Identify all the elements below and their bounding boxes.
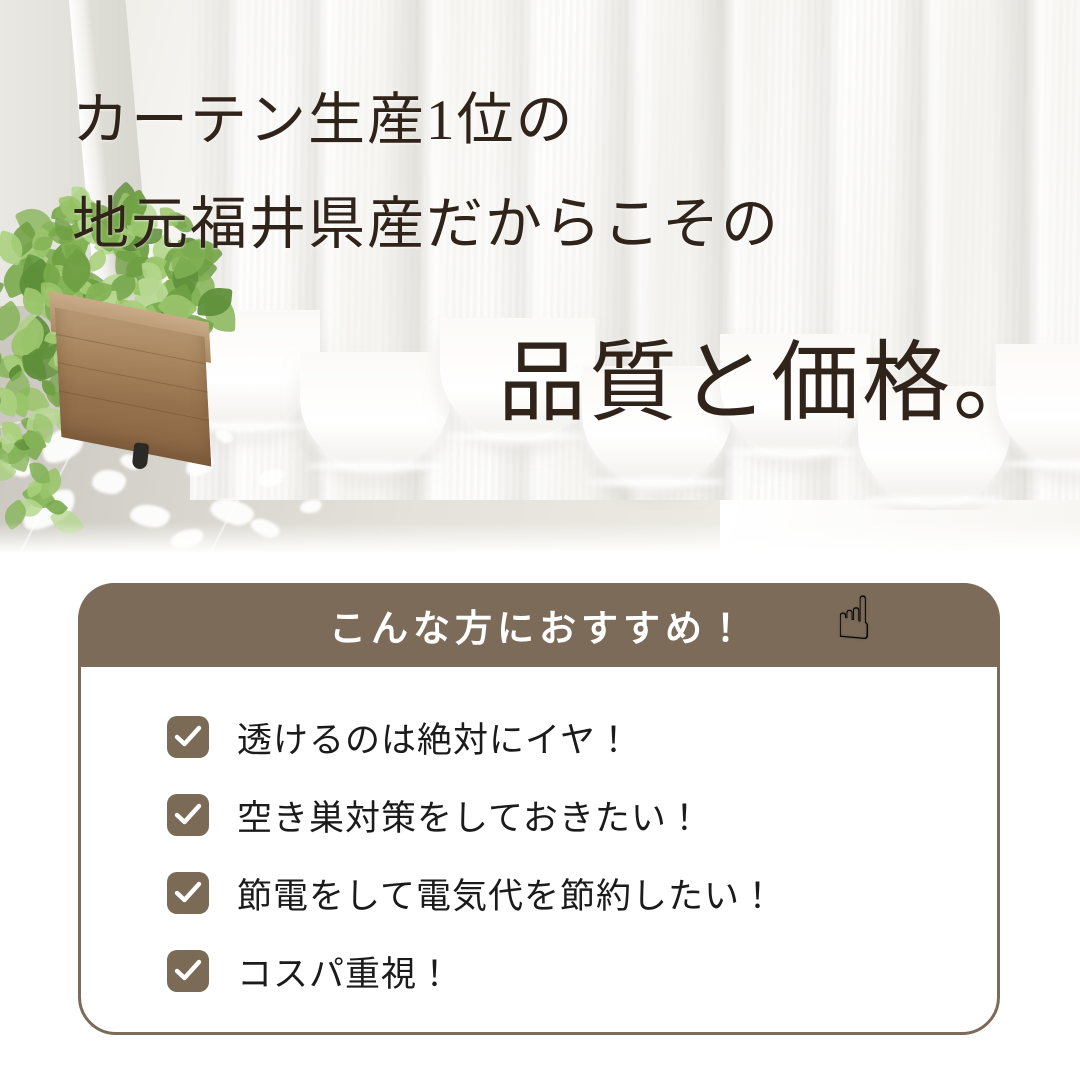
curtain-scallop — [440, 318, 595, 438]
leaf — [160, 206, 178, 227]
curtain-scallop — [300, 352, 450, 468]
curtain-backlight-glow — [864, 496, 1004, 504]
list-item[interactable]: 空き巣対策をしておきたい！ — [167, 776, 967, 854]
curtain-scallop — [720, 334, 870, 454]
hero-photo — [0, 0, 1080, 556]
list-item-label: 空き巣対策をしておきたい！ — [237, 790, 703, 841]
curtain-scallop — [996, 344, 1080, 466]
recommend-card-header: こんな方におすすめ！ ☝ — [78, 583, 1000, 667]
recommend-card: こんな方におすすめ！ ☝ 透けるのは絶対にイヤ！空き巣対策をしておきたい！節電を… — [78, 583, 1000, 1035]
check-icon[interactable] — [167, 872, 209, 914]
list-item[interactable]: コスパ重視！ — [167, 932, 967, 1010]
curtain-backlight-glow — [726, 448, 864, 456]
photo-bottom-fade — [0, 522, 1080, 556]
list-item-label: 透けるのは絶対にイヤ！ — [237, 712, 632, 763]
pointing-hand-icon: ☝ — [835, 589, 872, 649]
curtain-backlight-glow — [446, 432, 589, 440]
curtain-backlight-glow — [1002, 460, 1080, 468]
check-icon[interactable] — [167, 794, 209, 836]
recommendation-list: 透けるのは絶対にイヤ！空き巣対策をしておきたい！節電をして電気代を節約したい！コ… — [167, 698, 967, 1010]
curtain-scallop — [858, 386, 1010, 502]
list-item-label: 節電をして電気代を節約したい！ — [237, 868, 776, 919]
curtain-backlight-glow — [306, 462, 444, 470]
check-icon[interactable] — [167, 716, 209, 758]
list-item[interactable]: 透けるのは絶対にイヤ！ — [167, 698, 967, 776]
check-icon[interactable] — [167, 950, 209, 992]
curtain-scallop — [582, 366, 732, 484]
planter-caster — [132, 442, 150, 469]
product-banner-page: カーテン生産1位の 地元福井県産だからこその 品質と価格。 こんな方におすすめ！… — [0, 0, 1080, 1080]
list-item[interactable]: 節電をして電気代を節約したい！ — [167, 854, 967, 932]
curtain-backlight-glow — [588, 478, 726, 486]
list-item-label: コスパ重視！ — [237, 946, 453, 997]
curtain-hem — [190, 300, 1080, 510]
potted-plant — [0, 195, 260, 525]
recommend-card-title: こんな方におすすめ！ — [329, 598, 749, 652]
